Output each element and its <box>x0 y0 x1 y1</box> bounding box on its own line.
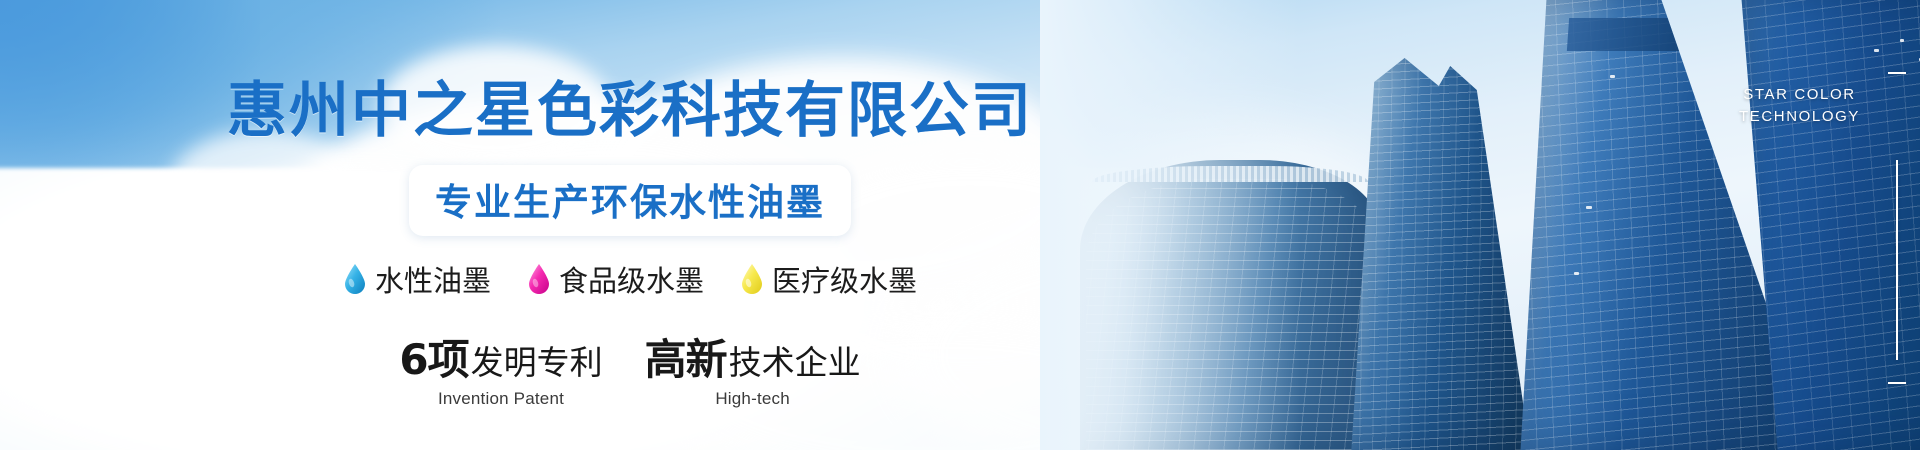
company-title: 惠州中之星色彩科技有限公司 <box>227 62 1033 149</box>
brand-label-line2: TECHNOLOGY <box>1739 106 1860 128</box>
window-highlight <box>1900 39 1904 42</box>
badge-strong-text: 6项 <box>399 326 468 387</box>
badge-list: 6项 发明专利 Invention Patent 高新 技术企业 High-te… <box>399 326 860 409</box>
badge-rest-text: 发明专利 <box>471 336 603 384</box>
window-highlight <box>1874 49 1879 52</box>
badge-headline: 高新 技术企业 <box>645 326 861 387</box>
feature-label: 水性油墨 <box>375 258 491 300</box>
brand-tick-top-icon <box>1888 72 1906 74</box>
feature-label: 医疗级水墨 <box>772 258 917 300</box>
brand-tick-bottom-icon <box>1888 382 1906 384</box>
brand-label: STAR COLOR TECHNOLOGY <box>1739 84 1860 128</box>
brand-vertical-rule <box>1896 160 1898 360</box>
subtitle-pill: 专业生产环保水性油墨 <box>409 165 851 236</box>
glass-facade <box>1340 50 1530 450</box>
curved-glass-tower <box>1340 50 1530 450</box>
badge-subtitle: Invention Patent <box>399 389 602 409</box>
window-highlight <box>1574 272 1579 275</box>
feature-item-food-grade-ink: 食品级水墨 <box>527 258 704 300</box>
subtitle-text: 专业生产环保水性油墨 <box>435 181 825 224</box>
feature-label: 食品级水墨 <box>559 258 704 300</box>
badge-rest-text: 技术企业 <box>729 336 861 384</box>
feature-list: 水性油墨 食品级水墨 <box>343 258 917 300</box>
window-highlight <box>1586 206 1592 209</box>
badge-high-tech: 高新 技术企业 High-tech <box>645 326 861 409</box>
badge-invention-patent: 6项 发明专利 Invention Patent <box>399 326 602 409</box>
badge-subtitle: High-tech <box>645 389 861 409</box>
badge-strong-text: 高新 <box>645 326 727 387</box>
badge-headline: 6项 发明专利 <box>399 326 602 387</box>
feature-item-medical-grade-ink: 医疗级水墨 <box>740 258 917 300</box>
promotional-banner: STAR COLOR TECHNOLOGY Star Color 惠州中之星色彩… <box>0 0 1920 450</box>
water-drop-icon <box>740 263 764 295</box>
water-drop-icon <box>527 263 551 295</box>
tower-crown <box>1567 18 1707 51</box>
water-drop-icon <box>343 263 367 295</box>
feature-item-water-ink: 水性油墨 <box>343 258 491 300</box>
banner-content: 惠州中之星色彩科技有限公司 专业生产环保水性油墨 水性油 <box>0 0 1260 450</box>
window-highlight <box>1610 75 1615 78</box>
brand-label-line1: STAR COLOR <box>1739 84 1860 106</box>
